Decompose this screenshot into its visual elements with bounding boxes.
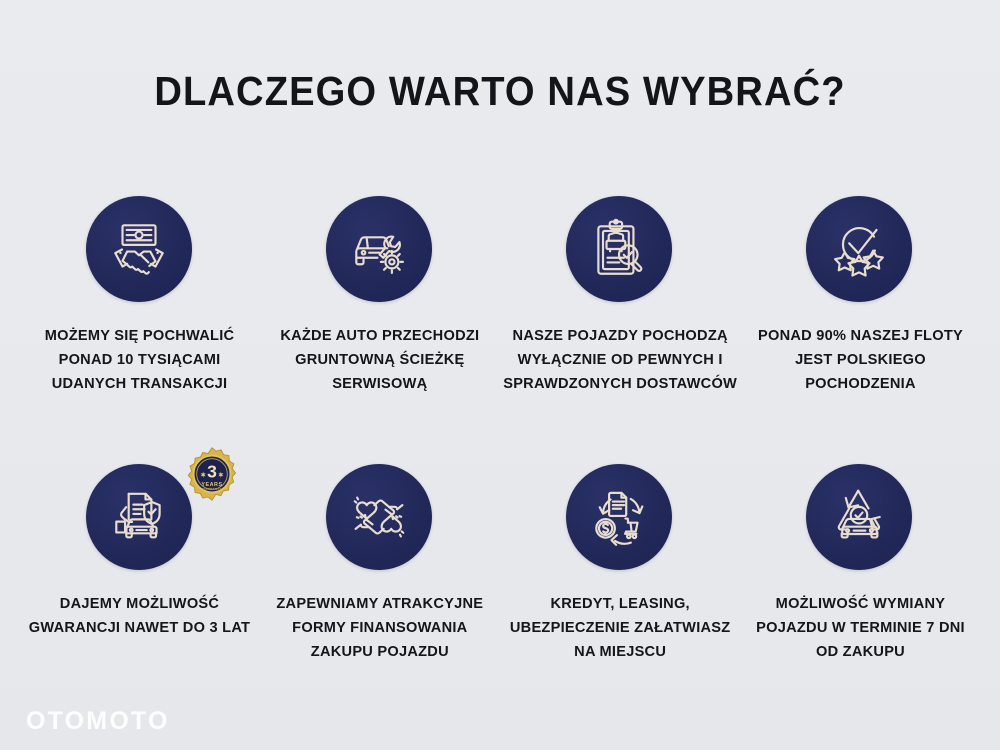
three-year-warranty-badge-icon: 3 YEARS WARRANTY — [184, 446, 240, 502]
feature-caption-4: PONAD 90% NASZEJ FLOTY JEST POLSKIEGO PO… — [743, 324, 978, 396]
feature-icon-wrap-4 — [806, 196, 914, 304]
feature-icon-circle-4 — [806, 196, 912, 302]
feature-icon-wrap-8 — [806, 464, 914, 572]
svg-text:WARRANTY: WARRANTY — [202, 487, 221, 491]
warranty-document-shield-car-icon — [106, 484, 172, 550]
feature-card-3: NASZE POJAZDY POCHODZĄ WYŁĄCZNIE OD PEWN… — [503, 196, 738, 396]
feature-card-2: KAŻDE AUTO PRZECHODZI GRUNTOWNĄ ŚCIEŻKĘ … — [262, 196, 497, 396]
feature-icon-circle-5 — [86, 464, 192, 570]
feature-icon-circle-6 — [326, 464, 432, 570]
feature-card-4: PONAD 90% NASZEJ FLOTY JEST POLSKIEGO PO… — [743, 196, 978, 396]
feature-icon-circle-1 — [86, 196, 192, 302]
infographic-page: DLACZEGO WARTO NAS WYBRAĆ? — [0, 0, 1000, 750]
feature-caption-8: MOŻLIWOŚĆ WYMIANY POJAZDU W TERMINIE 7 D… — [743, 592, 978, 664]
feature-icon-wrap-5: 3 YEARS WARRANTY — [86, 464, 194, 572]
svg-text:3: 3 — [207, 462, 217, 482]
feature-icon-wrap-7 — [566, 464, 674, 572]
feature-card-1: MOŻEMY SIĘ POCHWALIĆ PONAD 10 TYSIĄCAMI … — [22, 196, 257, 396]
features-row-2: 3 YEARS WARRANTY DAJEMY MOŻLIWOŚĆ GWARAN… — [0, 464, 1000, 664]
otomoto-watermark: OTOMOTO — [26, 707, 170, 736]
feature-caption-7: KREDYT, LEASING, UBEZPIECZENIE ZAŁATWIAS… — [503, 592, 738, 664]
feature-caption-5: DAJEMY MOŻLIWOŚĆ GWARANCJI NAWET DO 3 LA… — [22, 592, 257, 640]
feature-card-8: MOŻLIWOŚĆ WYMIANY POJAZDU W TERMINIE 7 D… — [743, 464, 978, 664]
feature-icon-wrap-2 — [326, 196, 434, 304]
feature-caption-6: ZAPEWNIAMY ATRAKCYJNE FORMY FINANSOWANIA… — [262, 592, 497, 664]
car-exchange-arrows-check-icon — [826, 484, 892, 550]
feature-caption-2: KAŻDE AUTO PRZECHODZI GRUNTOWNĄ ŚCIEŻKĘ … — [262, 324, 497, 396]
feature-icon-circle-2 — [326, 196, 432, 302]
page-title: DLACZEGO WARTO NAS WYBRAĆ? — [35, 68, 965, 115]
feature-card-7: KREDYT, LEASING, UBEZPIECZENIE ZAŁATWIAS… — [503, 464, 738, 664]
feature-caption-3: NASZE POJAZDY POCHODZĄ WYŁĄCZNIE OD PEWN… — [503, 324, 738, 396]
features-row-1: MOŻEMY SIĘ POCHWALIĆ PONAD 10 TYSIĄCAMI … — [0, 196, 1000, 396]
feature-icon-circle-3 — [566, 196, 672, 302]
features-grid: MOŻEMY SIĘ POCHWALIĆ PONAD 10 TYSIĄCAMI … — [0, 196, 1000, 664]
clipboard-car-inspection-magnifier-icon — [586, 216, 652, 282]
car-service-wrench-gear-icon — [346, 216, 412, 282]
feature-icon-wrap-6 — [326, 464, 434, 572]
checkmark-stars-icon — [826, 216, 892, 282]
feature-icon-wrap-1 — [86, 196, 194, 304]
feature-card-5: 3 YEARS WARRANTY DAJEMY MOŻLIWOŚĆ GWARAN… — [22, 464, 257, 640]
handshake-money-icon — [106, 216, 172, 282]
feature-card-6: ZAPEWNIAMY ATRAKCYJNE FORMY FINANSOWANIA… — [262, 464, 497, 664]
feature-caption-1: MOŻEMY SIĘ POCHWALIĆ PONAD 10 TYSIĄCAMI … — [22, 324, 257, 396]
finance-cycle-document-coin-cart-icon — [586, 484, 652, 550]
feature-icon-circle-8 — [806, 464, 912, 570]
feature-icon-circle-7 — [566, 464, 672, 570]
hands-exchanging-money-icon — [346, 484, 412, 550]
feature-icon-wrap-3 — [566, 196, 674, 304]
